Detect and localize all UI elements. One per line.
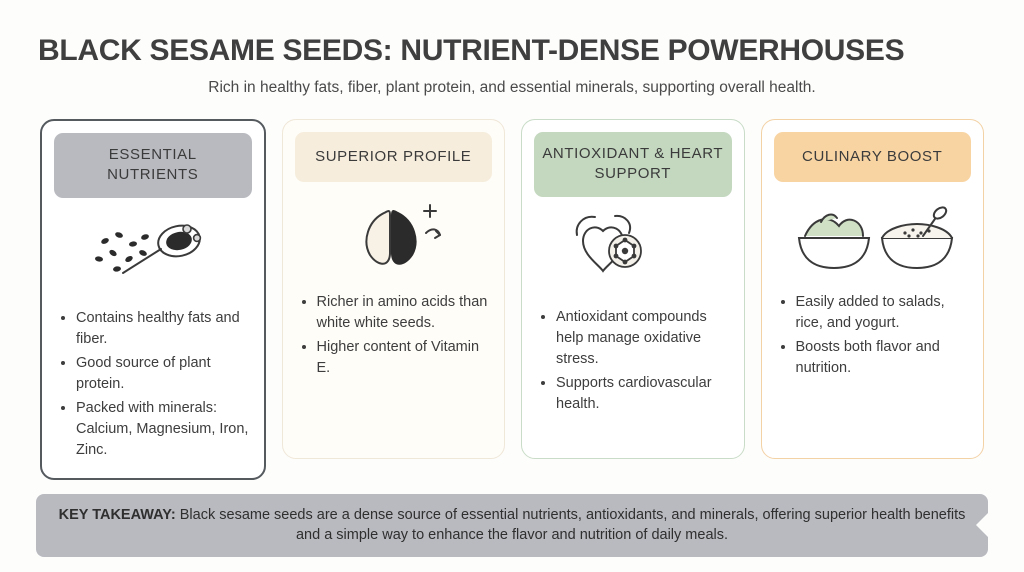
card-row: ESSENTIAL NUTRIENTS bbox=[36, 119, 988, 480]
key-takeaway-banner: KEY TAKEAWAY: Black sesame seeds are a d… bbox=[36, 494, 988, 557]
key-takeaway-label: KEY TAKEAWAY: bbox=[59, 507, 176, 523]
list-item: Packed with minerals: Calcium, Magnesium… bbox=[76, 398, 252, 461]
list-item: Higher content of Vitamin E. bbox=[317, 337, 493, 379]
two-seeds-comparison-icon bbox=[295, 188, 493, 288]
card-culinary-boost[interactable]: CULINARY BOOST bbox=[761, 119, 985, 459]
list-item: Easily added to salads, rice, and yogurt… bbox=[796, 292, 972, 334]
list-item: Contains healthy fats and fiber. bbox=[76, 308, 252, 350]
card-heading: ESSENTIAL NUTRIENTS bbox=[54, 133, 252, 198]
list-item: Boosts both flavor and nutrition. bbox=[796, 337, 972, 379]
page-title: BLACK SESAME SEEDS: NUTRIENT-DENSE POWER… bbox=[38, 34, 988, 67]
card-bullet-list: Contains healthy fats and fiber. Good so… bbox=[54, 308, 252, 464]
card-superior-profile[interactable]: SUPERIOR PROFILE Richer in amino acids t… bbox=[282, 119, 506, 459]
card-heading: CULINARY BOOST bbox=[774, 132, 972, 182]
heart-with-molecule-icon bbox=[534, 203, 732, 303]
spoon-with-seeds-icon bbox=[54, 204, 252, 304]
list-item: Good source of plant protein. bbox=[76, 353, 252, 395]
card-bullet-list: Easily added to salads, rice, and yogurt… bbox=[774, 292, 972, 382]
card-antioxidant-heart-support[interactable]: ANTIOXIDANT & HEART SUPPORT bbox=[521, 119, 745, 459]
card-heading: ANTIOXIDANT & HEART SUPPORT bbox=[534, 132, 732, 197]
card-bullet-list: Antioxidant compounds help manage oxidat… bbox=[534, 307, 732, 418]
list-item: Richer in amino acids than white white s… bbox=[317, 292, 493, 334]
list-item: Supports cardiovascular health. bbox=[556, 373, 732, 415]
page-subtitle: Rich in healthy fats, fiber, plant prote… bbox=[36, 79, 988, 97]
list-item: Antioxidant compounds help manage oxidat… bbox=[556, 307, 732, 370]
key-takeaway-text: Black sesame seeds are a dense source of… bbox=[180, 507, 966, 544]
card-heading: SUPERIOR PROFILE bbox=[295, 132, 493, 182]
infographic-page: BLACK SESAME SEEDS: NUTRIENT-DENSE POWER… bbox=[0, 0, 1024, 572]
card-bullet-list: Richer in amino acids than white white s… bbox=[295, 292, 493, 382]
card-essential-nutrients[interactable]: ESSENTIAL NUTRIENTS bbox=[40, 119, 266, 480]
salad-and-yogurt-bowls-icon bbox=[774, 188, 972, 288]
